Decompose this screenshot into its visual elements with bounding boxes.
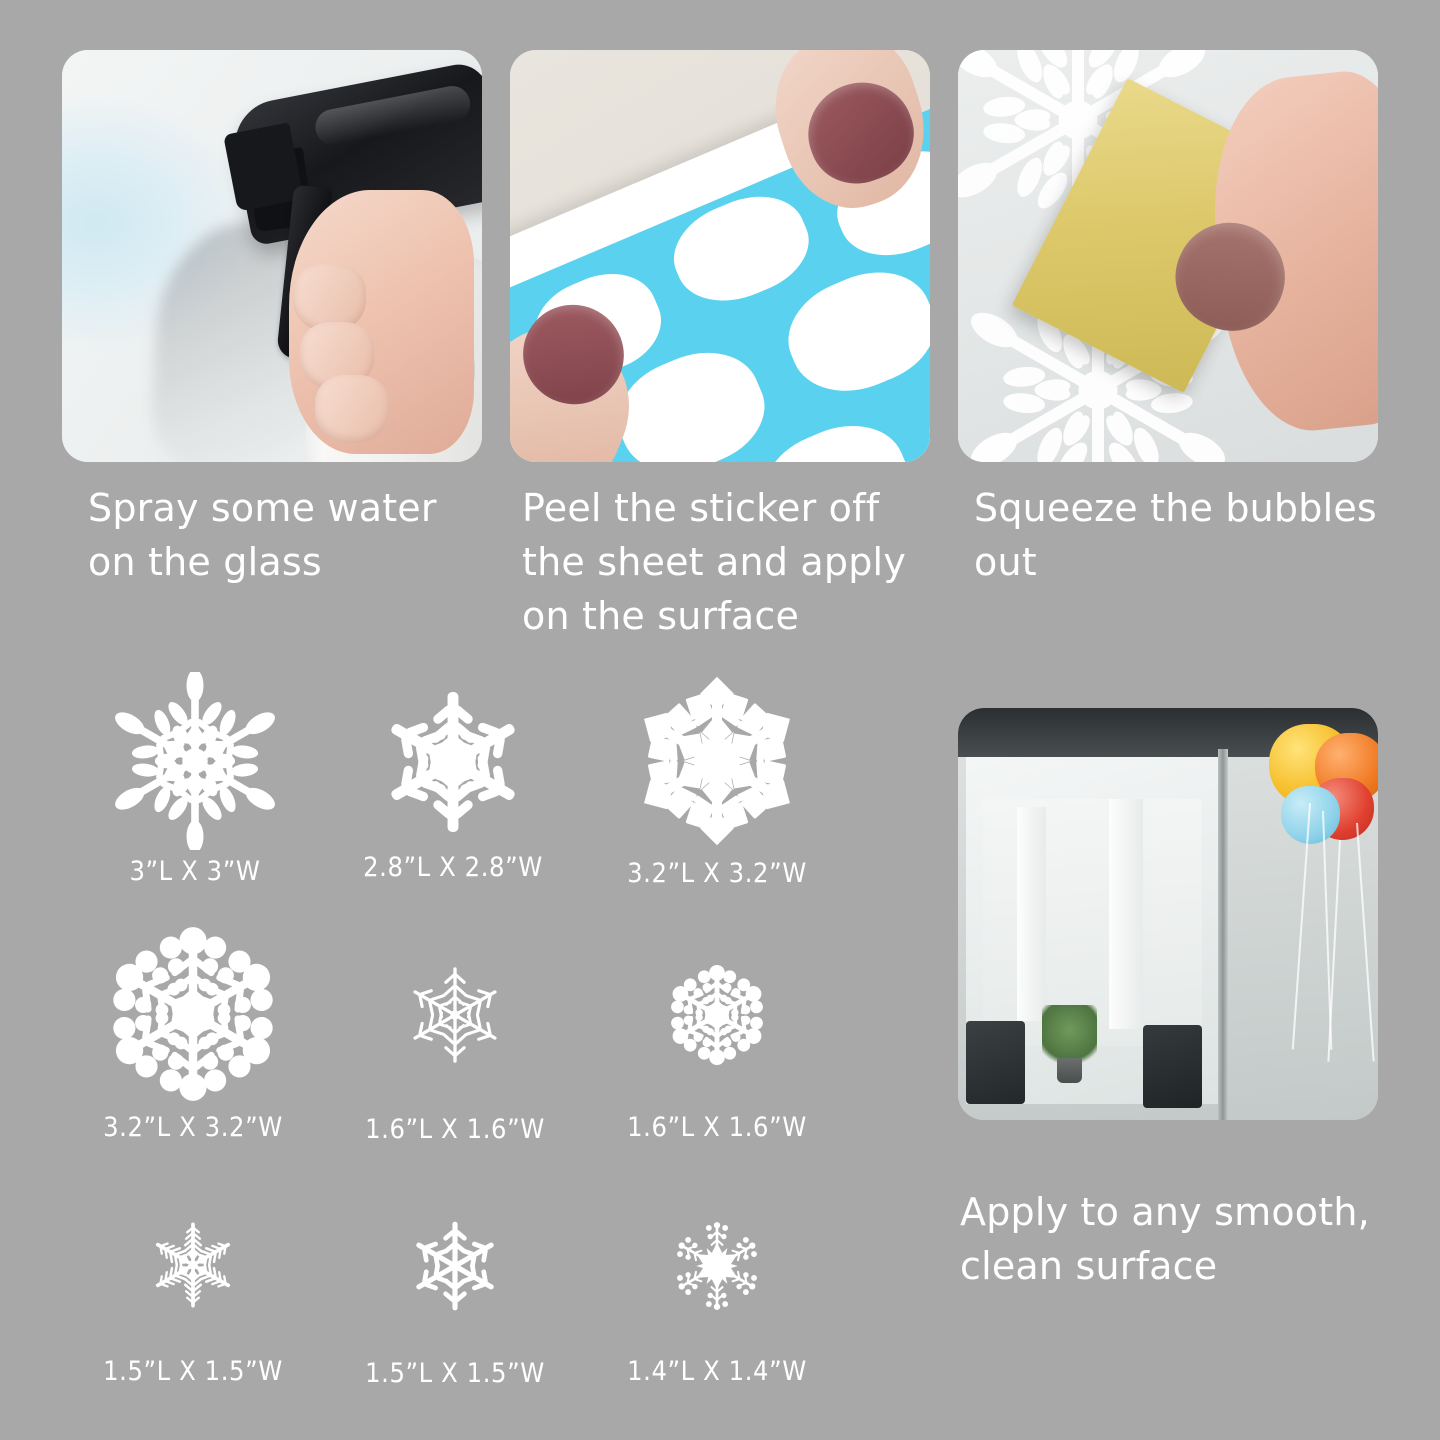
snowflake-leafy-star-icon [106,672,284,850]
size-label: 2.8”L X 2.8”W [338,852,568,883]
plant-pot [1057,1058,1082,1083]
size-label: 3”L X 3”W [80,856,310,887]
snowflake-thin-dendrite-small-icon [400,960,510,1070]
snowflake-feather-star-icon [144,1216,242,1314]
size-label: 1.4”L X 1.4”W [602,1356,832,1387]
hand-holding-bottle [289,190,474,454]
office-chair [966,1021,1025,1103]
interior-column [1109,799,1143,1030]
balloon-blue [1281,786,1340,844]
caption-step-peel: Peel the sticker off the sheet and apply… [522,482,932,644]
snowflake-classic-dendrite-icon [369,678,537,846]
caption-apply-to-smooth-surface: Apply to any smooth, clean surface [960,1186,1400,1294]
size-chart-cell-molecular-small: 1.6”L X 1.6”W [602,922,832,1143]
infographic-page: Spray some water on the glass Peel the s… [0,0,1440,1440]
sticker-patch [773,253,930,411]
size-chart-cell-molecular-large: 3.2”L X 3.2”W [78,922,308,1143]
caption-step-squeeze: Squeeze the bubbles out [974,482,1394,590]
photo-2-content [510,50,930,462]
glass-mullion [1218,749,1227,1120]
size-chart-cell-starburst-dotted: 1.4”L X 1.4”W [602,1172,832,1387]
photo-1-content [62,50,482,462]
photo-3-content [958,50,1378,462]
snowflake-starburst-dotted-icon [669,1218,765,1314]
size-label: 3.2”L X 3.2”W [602,858,832,889]
size-label: 1.6”L X 1.6”W [602,1112,832,1143]
photo-spray-water-on-glass [62,50,482,462]
snowflake-simple-chevron-icon [405,1216,505,1316]
office-chair [1143,1025,1202,1107]
finger [315,375,389,444]
sticker-patch [660,179,822,319]
photo-squeeze-bubbles-out [958,50,1378,462]
size-chart-cell-feather-star: 1.5”L X 1.5”W [78,1172,308,1387]
size-label: 1.6”L X 1.6”W [340,1114,570,1145]
size-chart-cell-leafy-star: 3”L X 3”W [80,672,310,887]
interior-column [1017,807,1046,1021]
caption-step-spray: Spray some water on the glass [88,482,488,590]
sticker-patch [747,407,925,462]
photo-office-glass-with-balloons [958,708,1378,1120]
snowflake-molecular-dots-small-icon [664,962,770,1068]
photo-peel-sticker-from-sheet [510,50,930,462]
snowflake-geometric-diamond-icon [626,670,808,852]
size-label: 3.2”L X 3.2”W [78,1112,308,1143]
size-chart-cell-classic-dendrite: 2.8”L X 2.8”W [338,678,568,883]
size-chart-cell-geometric-diamond: 3.2”L X 3.2”W [602,670,832,889]
size-label: 1.5”L X 1.5”W [340,1358,570,1389]
photo-4-content [958,708,1378,1120]
size-chart-cell-thin-dendrite-small: 1.6”L X 1.6”W [340,922,570,1145]
snowflake-molecular-dots-large-icon [101,922,285,1106]
size-label: 1.5”L X 1.5”W [78,1356,308,1387]
size-chart-cell-simple-chevron: 1.5”L X 1.5”W [340,1172,570,1389]
